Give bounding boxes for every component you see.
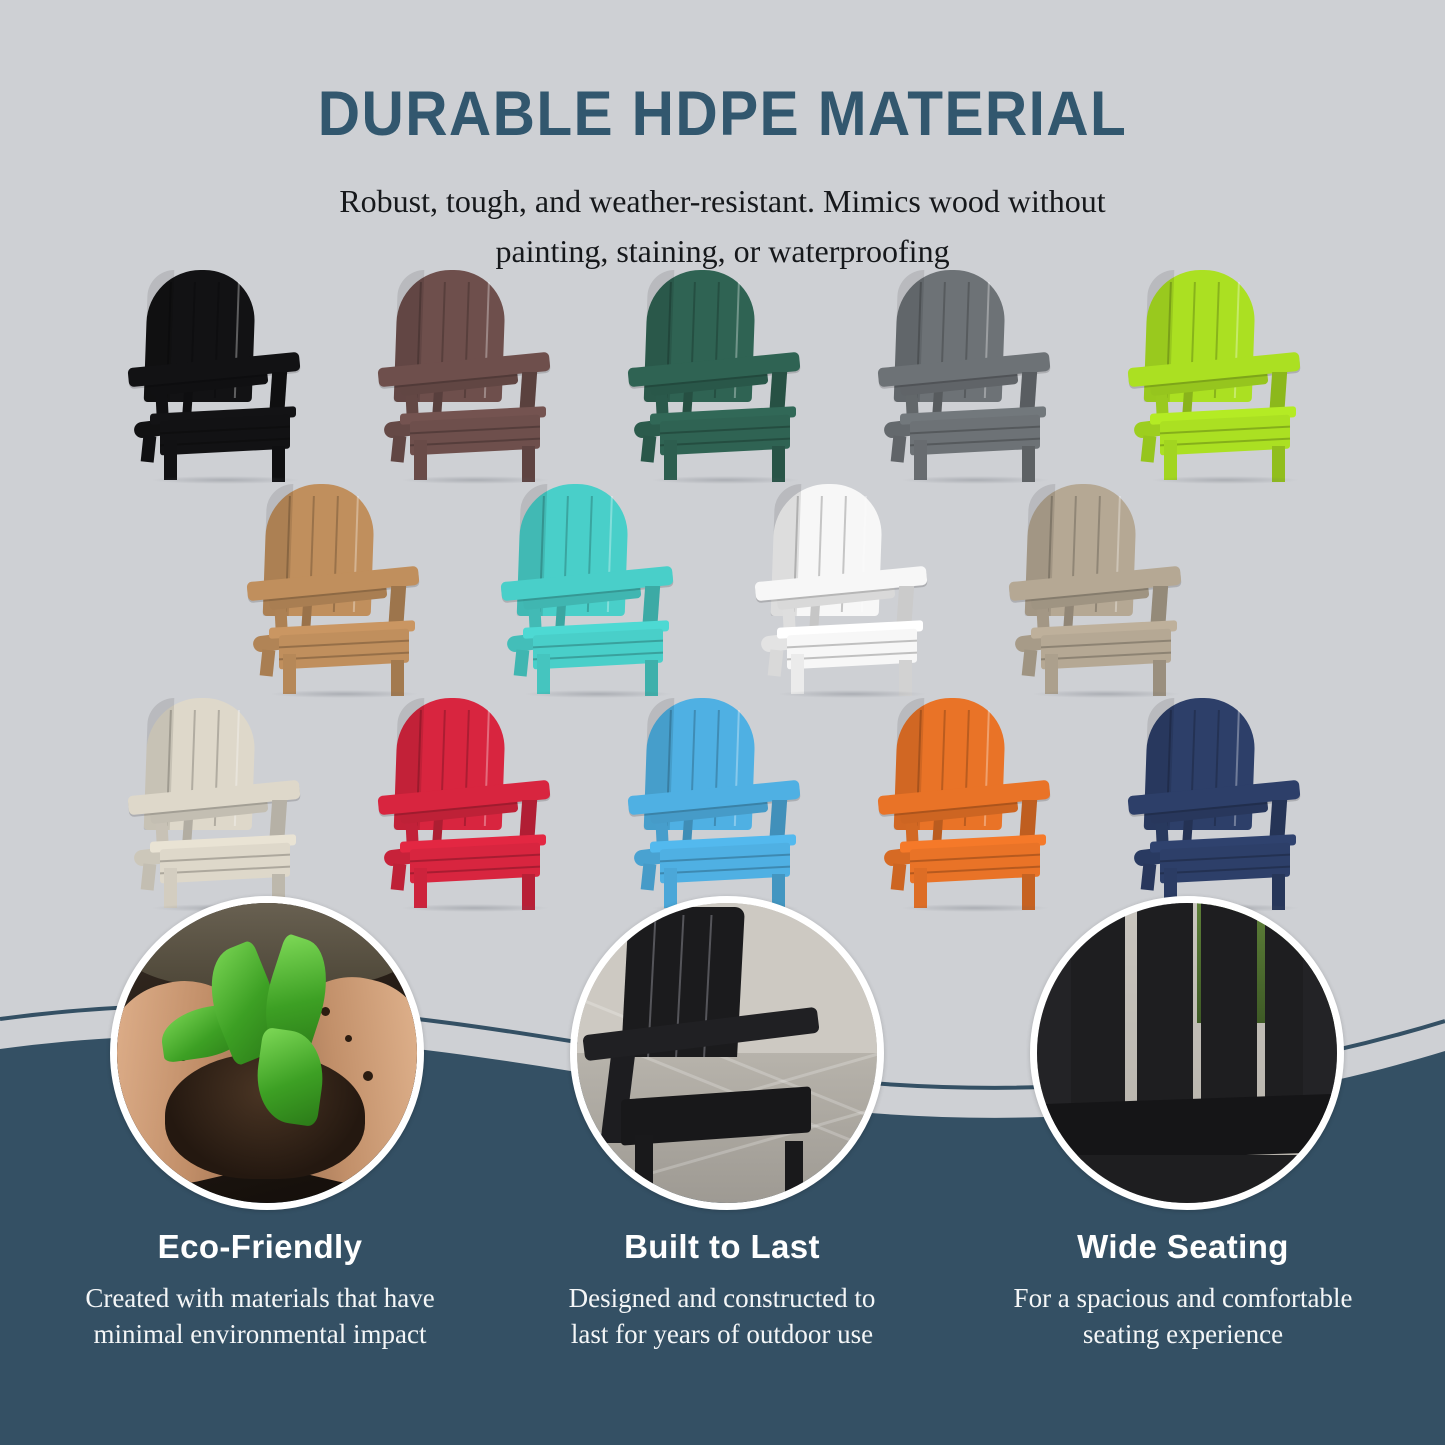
feature-title: Eco-Friendly — [25, 1228, 495, 1266]
chair-back-closeup-icon — [1037, 903, 1337, 1203]
chair-leg — [914, 440, 927, 480]
chair-figure — [120, 268, 326, 482]
chair-seat — [160, 415, 290, 456]
back-slat — [1201, 896, 1257, 1117]
chair-swatch-teak[interactable] — [239, 482, 445, 696]
feature-caption-eco-friendly: Eco-Friendly Created with materials that… — [25, 1228, 495, 1352]
subtitle-line-1: Robust, tough, and weather-resistant. Mi… — [223, 176, 1223, 226]
chair-figure — [239, 482, 445, 696]
chair-figure — [870, 696, 1076, 910]
chair-leg — [140, 435, 156, 462]
feature-caption-built-to-last: Built to Last Designed and constructed t… — [487, 1228, 957, 1352]
chair-leg — [1140, 863, 1156, 890]
infographic-canvas: DURABLE HDPE MATERIAL Robust, tough, and… — [0, 0, 1445, 1445]
page-subtitle: Robust, tough, and weather-resistant. Mi… — [223, 176, 1223, 276]
chair-row-1 — [0, 268, 1445, 482]
feature-desc-line-1: Designed and constructed to — [487, 1280, 957, 1316]
chair-leg — [1140, 435, 1156, 462]
sleeve-shape — [125, 897, 411, 989]
chair-leg-shape — [785, 1141, 803, 1203]
chair-leg — [390, 435, 406, 462]
chair-leg — [1021, 649, 1037, 676]
chair-seat — [410, 415, 540, 456]
chair-figure — [620, 268, 826, 482]
back-slat — [1137, 896, 1193, 1117]
chair-row-3 — [0, 696, 1445, 910]
chair-leg — [259, 649, 275, 676]
chair-leg — [1164, 440, 1177, 480]
feature-desc-line-2: last for years of outdoor use — [487, 1316, 957, 1352]
soil-speck — [363, 1071, 373, 1081]
chair-figure — [493, 482, 699, 696]
chair-leg — [513, 649, 529, 676]
chair-seat — [160, 843, 290, 884]
page-title: DURABLE HDPE MATERIAL — [51, 78, 1395, 150]
chair-swatch-lime-green[interactable] — [1120, 268, 1326, 482]
chair-swatch-ivory[interactable] — [120, 696, 326, 910]
chair-leg — [390, 863, 406, 890]
feature-desc-line-1: For a spacious and comfortable — [948, 1280, 1418, 1316]
chair-figure — [870, 268, 1076, 482]
chair-figure — [120, 696, 326, 910]
chair-leg — [890, 863, 906, 890]
feature-desc-line-2: seating experience — [948, 1316, 1418, 1352]
chair-seat — [1160, 843, 1290, 884]
chair-seat — [279, 629, 409, 670]
chair-figure — [370, 696, 576, 910]
feature-caption-wide-seating: Wide Seating For a spacious and comforta… — [948, 1228, 1418, 1352]
chair-figure — [620, 696, 826, 910]
chair-swatch-orange[interactable] — [870, 696, 1076, 910]
feature-desc-line-1: Created with materials that have — [25, 1280, 495, 1316]
chair-seat — [787, 629, 917, 670]
feature-title: Built to Last — [487, 1228, 957, 1266]
feature-photo-eco-friendly — [110, 896, 424, 1210]
chair-leg — [1045, 654, 1058, 694]
chair-swatch-dark-green[interactable] — [620, 268, 826, 482]
chair-row-2 — [0, 482, 1445, 696]
chair-seat — [910, 415, 1040, 456]
chair-front-shape — [1037, 1155, 1337, 1210]
chair-leg — [767, 649, 783, 676]
feature-photo-built-to-last — [570, 896, 884, 1210]
chair-leg — [664, 440, 677, 480]
chair-color-grid — [0, 268, 1445, 910]
chair-swatch-white[interactable] — [747, 482, 953, 696]
chair-leg — [283, 654, 296, 694]
chair-swatch-red[interactable] — [370, 696, 576, 910]
feature-photo-wide-seating — [1030, 896, 1344, 1210]
chair-leg — [414, 440, 427, 480]
chair-leg — [164, 440, 177, 480]
chair-leg — [890, 435, 906, 462]
chair-leg — [791, 654, 804, 694]
black-chair-patio-icon — [577, 903, 877, 1203]
chair-swatch-turquoise[interactable] — [493, 482, 699, 696]
chair-seat — [1041, 629, 1171, 670]
chair-leg — [537, 654, 550, 694]
chair-swatch-khaki[interactable] — [1001, 482, 1207, 696]
chair-swatch-black[interactable] — [120, 268, 326, 482]
chair-leg — [640, 863, 656, 890]
chair-figure — [370, 268, 576, 482]
chair-swatch-gray[interactable] — [870, 268, 1076, 482]
chair-figure — [1001, 482, 1207, 696]
feature-photos — [0, 896, 1445, 1216]
feature-title: Wide Seating — [948, 1228, 1418, 1266]
soil-speck — [345, 1035, 352, 1042]
chair-leg-shape — [635, 1135, 653, 1203]
chair-figure — [1120, 268, 1326, 482]
chair-swatch-navy-blue[interactable] — [1120, 696, 1326, 910]
chair-seat — [660, 843, 790, 884]
feature-desc-line-2: minimal environmental impact — [25, 1316, 495, 1352]
chair-leg — [640, 435, 656, 462]
chair-seat — [910, 843, 1040, 884]
chair-seat — [1160, 415, 1290, 456]
chair-seat — [660, 415, 790, 456]
chair-leg — [140, 863, 156, 890]
chair-swatch-brown[interactable] — [370, 268, 576, 482]
chair-figure — [747, 482, 953, 696]
chair-swatch-light-blue[interactable] — [620, 696, 826, 910]
chair-seat — [410, 843, 540, 884]
chair-figure — [1120, 696, 1326, 910]
chair-seat — [533, 629, 663, 670]
chair-seat-shape — [1045, 1094, 1331, 1162]
back-slat — [1067, 896, 1125, 1123]
hands-holding-seedling-icon — [117, 903, 417, 1203]
